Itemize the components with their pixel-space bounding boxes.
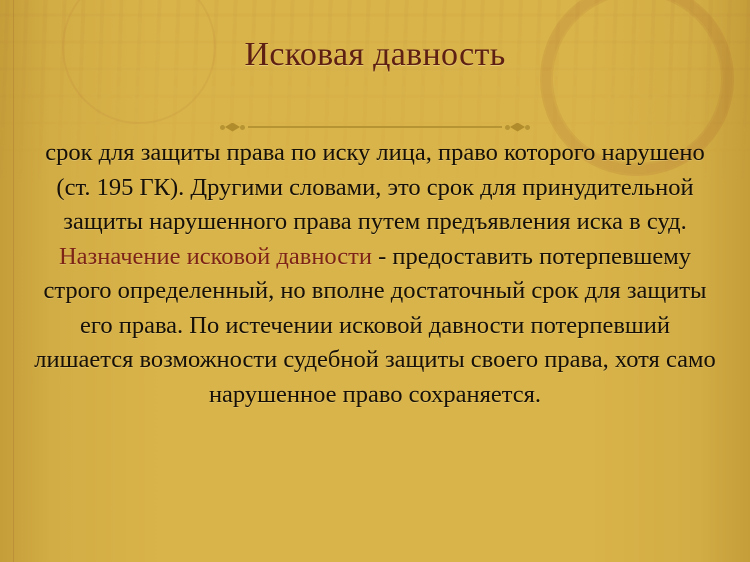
presentation-slide: Исковая давность срок для защиты права п… bbox=[0, 0, 750, 562]
purpose-heading-accent: Назначение исковой давности bbox=[59, 243, 372, 270]
divider-diamond-right bbox=[510, 123, 525, 132]
divider-diamond-left bbox=[225, 123, 240, 132]
margin-rule-line bbox=[13, 0, 14, 562]
ornamental-divider bbox=[220, 120, 530, 134]
paragraph-definition: срок для защиты права по иску лица, прав… bbox=[28, 136, 722, 240]
definition-text: срок для защиты права по иску лица, прав… bbox=[45, 139, 705, 235]
slide-title: Исковая давность bbox=[0, 35, 750, 76]
divider-dot-left-outer bbox=[220, 125, 225, 130]
divider-dot-left-inner bbox=[240, 125, 245, 130]
divider-dot-right-inner bbox=[505, 125, 510, 130]
paragraph-purpose: Назначение исковой давности - предостави… bbox=[28, 240, 722, 413]
slide-body: срок для защиты права по иску лица, прав… bbox=[28, 136, 722, 412]
divider-dot-right-outer bbox=[525, 125, 530, 130]
divider-line bbox=[248, 126, 502, 128]
